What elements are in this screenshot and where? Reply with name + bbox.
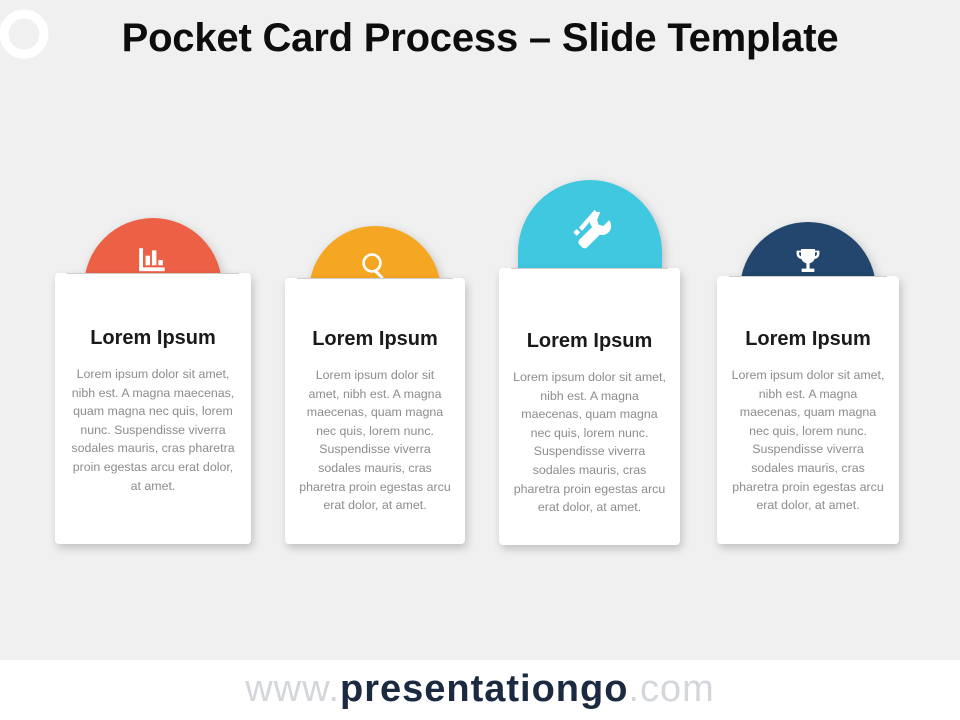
card-panel-4[interactable]: Lorem Ipsum Lorem ipsum dolor sit amet, … (717, 276, 899, 544)
card-body-3: Lorem ipsum dolor sit amet, nibh est. A … (513, 368, 666, 517)
card-title-1: Lorem Ipsum (55, 327, 251, 350)
footer-url-prefix: www. (245, 668, 340, 710)
trophy-icon (792, 246, 824, 278)
card-body-1: Lorem ipsum dolor sit amet, nibh est. A … (69, 365, 237, 495)
footer-url-brand: presentationgo (340, 668, 628, 710)
pocket-card-4[interactable]: Lorem Ipsum Lorem ipsum dolor sit amet, … (717, 222, 899, 548)
card-body-2: Lorem ipsum dolor sit amet, nibh est. A … (299, 366, 451, 515)
footer-url-suffix: .com (628, 668, 714, 710)
slide-canvas: Pocket Card Process – Slide Template (0, 0, 960, 720)
card-body-4: Lorem ipsum dolor sit amet, nibh est. A … (731, 366, 885, 515)
card-panel-1[interactable]: Lorem Ipsum Lorem ipsum dolor sit amet, … (55, 273, 251, 544)
card-top-rule-2 (297, 278, 453, 279)
card-top-rule-3 (511, 268, 668, 269)
footer-bar: www.presentationgo.com (0, 660, 960, 720)
footer-url[interactable]: www.presentationgo.com (0, 668, 960, 711)
card-top-rule-1 (67, 273, 239, 274)
tools-icon (567, 208, 613, 254)
card-title-3: Lorem Ipsum (499, 330, 680, 353)
card-title-2: Lorem Ipsum (285, 328, 465, 351)
card-panel-3[interactable]: Lorem Ipsum Lorem ipsum dolor sit amet, … (499, 268, 680, 545)
card-title-4: Lorem Ipsum (717, 328, 899, 351)
pocket-card-2[interactable]: Lorem Ipsum Lorem ipsum dolor sit amet, … (285, 226, 465, 548)
pocket-card-3[interactable]: Lorem Ipsum Lorem ipsum dolor sit amet, … (499, 180, 680, 548)
card-panel-2[interactable]: Lorem Ipsum Lorem ipsum dolor sit amet, … (285, 278, 465, 544)
card-row: Lorem Ipsum Lorem ipsum dolor sit amet, … (0, 0, 960, 640)
card-top-rule-4 (729, 276, 887, 277)
pocket-card-1[interactable]: Lorem Ipsum Lorem ipsum dolor sit amet, … (55, 218, 251, 548)
